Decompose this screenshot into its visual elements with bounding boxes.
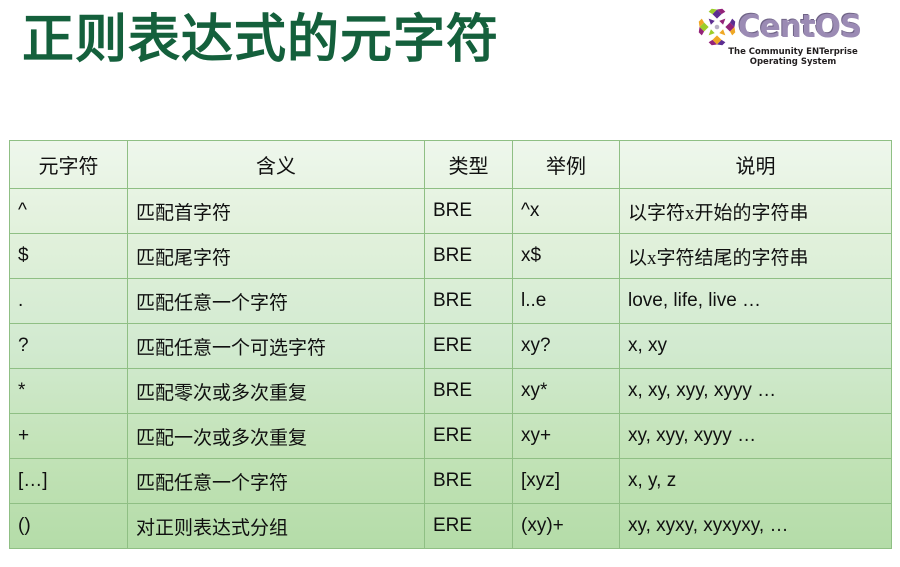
centos-tagline: The Community ENTerprise Operating Syste…: [698, 47, 888, 67]
table-row: () 对正则表达式分组 ERE (xy)+ xy, xyxy, xyxyxy, …: [10, 504, 892, 549]
cell-meaning: 匹配尾字符: [128, 234, 425, 279]
table-row: . 匹配任意一个字符 BRE l..e love, life, live …: [10, 279, 892, 324]
cell-description: 以字符x开始的字符串: [620, 189, 892, 234]
cell-description: x, xy, xyy, xyyy …: [620, 369, 892, 414]
table-row: + 匹配一次或多次重复 ERE xy+ xy, xyy, xyyy …: [10, 414, 892, 459]
centos-wordmark: CentOS: [738, 8, 861, 46]
table-row: […] 匹配任意一个字符 BRE [xyz] x, y, z: [10, 459, 892, 504]
cell-metachar: ?: [10, 324, 128, 369]
centos-logo: CentOS The Community ENTerprise Operatin…: [698, 8, 888, 66]
cell-metachar: +: [10, 414, 128, 459]
cell-type: ERE: [425, 324, 513, 369]
page-title: 正则表达式的元字符: [22, 8, 499, 73]
column-header-example: 举例: [513, 141, 620, 189]
cell-description: 以x字符结尾的字符串: [620, 234, 892, 279]
cell-type: BRE: [425, 234, 513, 279]
cell-metachar: $: [10, 234, 128, 279]
cell-description: xy, xyy, xyyy …: [620, 414, 892, 459]
cell-description: x, y, z: [620, 459, 892, 504]
cell-type: BRE: [425, 279, 513, 324]
cell-meaning: 匹配首字符: [128, 189, 425, 234]
cell-meaning: 匹配零次或多次重复: [128, 369, 425, 414]
logo-top-row: CentOS: [698, 8, 888, 46]
metacharacter-table: 元字符 含义 类型 举例 说明 ^ 匹配首字符 BRE ^x 以字符x开始的字符…: [9, 140, 892, 549]
column-header-metachar: 元字符: [10, 141, 128, 189]
cell-example: xy?: [513, 324, 620, 369]
cell-metachar: […]: [10, 459, 128, 504]
centos-pinwheel-icon: [698, 8, 736, 46]
cell-metachar: ^: [10, 189, 128, 234]
cell-meaning: 对正则表达式分组: [128, 504, 425, 549]
cell-type: BRE: [425, 369, 513, 414]
cell-type: BRE: [425, 189, 513, 234]
cell-type: ERE: [425, 504, 513, 549]
cell-example: l..e: [513, 279, 620, 324]
table-row: ^ 匹配首字符 BRE ^x 以字符x开始的字符串: [10, 189, 892, 234]
cell-meaning: 匹配一次或多次重复: [128, 414, 425, 459]
cell-description: x, xy: [620, 324, 892, 369]
cell-example: xy*: [513, 369, 620, 414]
cell-example: x$: [513, 234, 620, 279]
column-header-meaning: 含义: [128, 141, 425, 189]
cell-example: xy+: [513, 414, 620, 459]
centos-tagline-line-2: Operating System: [698, 57, 888, 67]
table-row: $ 匹配尾字符 BRE x$ 以x字符结尾的字符串: [10, 234, 892, 279]
table-header: 元字符 含义 类型 举例 说明: [10, 141, 892, 189]
slide-header: 正则表达式的元字符: [0, 0, 900, 120]
cell-description: xy, xyxy, xyxyxy, …: [620, 504, 892, 549]
table-body: ^ 匹配首字符 BRE ^x 以字符x开始的字符串 $ 匹配尾字符 BRE x$…: [10, 189, 892, 549]
cell-metachar: (): [10, 504, 128, 549]
cell-metachar: *: [10, 369, 128, 414]
cell-meaning: 匹配任意一个可选字符: [128, 324, 425, 369]
table-row: * 匹配零次或多次重复 BRE xy* x, xy, xyy, xyyy …: [10, 369, 892, 414]
cell-example: ^x: [513, 189, 620, 234]
cell-type: BRE: [425, 459, 513, 504]
table-row: ? 匹配任意一个可选字符 ERE xy? x, xy: [10, 324, 892, 369]
table-header-row: 元字符 含义 类型 举例 说明: [10, 141, 892, 189]
cell-meaning: 匹配任意一个字符: [128, 459, 425, 504]
cell-metachar: .: [10, 279, 128, 324]
cell-meaning: 匹配任意一个字符: [128, 279, 425, 324]
cell-example: [xyz]: [513, 459, 620, 504]
cell-example: (xy)+: [513, 504, 620, 549]
cell-type: ERE: [425, 414, 513, 459]
cell-description: love, life, live …: [620, 279, 892, 324]
column-header-description: 说明: [620, 141, 892, 189]
centos-tagline-line-1: The Community ENTerprise: [698, 47, 888, 57]
column-header-type: 类型: [425, 141, 513, 189]
